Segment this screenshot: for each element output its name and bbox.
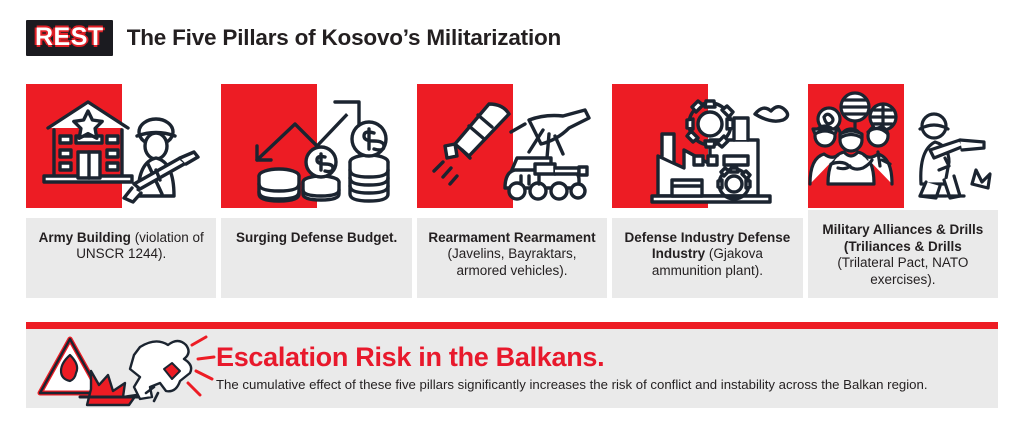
fire-hazard-triangle-icon (36, 331, 216, 407)
rest-logo: REST (26, 20, 113, 56)
escalation-risk-banner: Escalation Risk in the Balkans. The cumu… (26, 322, 998, 408)
pillar-card-military-alliances: Military Alliances & Drills (Triliances … (808, 84, 998, 298)
alliance-handshake-and-kneeling-soldier-icon (808, 84, 1000, 210)
pillar-text: Rearmament Rearmament (Javelins, Bayrakt… (417, 218, 607, 298)
pillar-text: Military Alliances & Drills (Triliances … (808, 210, 998, 298)
pillar-icon-wrap (808, 84, 998, 202)
banner-title: Escalation Risk in the Balkans. (216, 343, 984, 373)
pillar-detail: (Trilateral Pact, NATO exercises). (837, 255, 968, 286)
pillars-row: Army Building (violation of UNSCR 1244). (26, 84, 998, 298)
page-title: The Five Pillars of Kosovo’s Militarizat… (127, 25, 561, 51)
pillar-icon-wrap (417, 84, 607, 210)
pillar-icon-wrap (221, 84, 411, 210)
pillar-text: Army Building (violation of UNSCR 1244). (26, 218, 216, 298)
pillar-title: Army Building (39, 230, 135, 245)
pillar-title: Rearmament Rearmament (428, 230, 595, 245)
banner-icon-group (26, 329, 216, 408)
pillar-title: Military Alliances & Drills (Triliances … (822, 222, 983, 253)
banner-body: Escalation Risk in the Balkans. The cumu… (216, 343, 998, 393)
infographic-page: REST The Five Pillars of Kosovo’s Milita… (0, 0, 1024, 434)
pillar-title: Surging Defense Budget. (236, 230, 397, 245)
pillar-icon-wrap (612, 84, 802, 210)
header: REST The Five Pillars of Kosovo’s Milita… (26, 20, 561, 56)
rising-arrow-coin-stacks-icon (221, 84, 413, 210)
pillar-title: Defense Industry Defense Industry (625, 230, 791, 261)
banner-subtitle: The cumulative effect of these five pill… (216, 377, 984, 394)
pillar-text: Surging Defense Budget. (221, 218, 411, 298)
pillar-icon-wrap (26, 84, 216, 210)
pillar-card-army-building: Army Building (violation of UNSCR 1244). (26, 84, 216, 298)
pillar-card-defense-industry: Defense Industry Defense Industry (Gjako… (612, 84, 802, 298)
missile-drone-armored-vehicle-icon (417, 84, 609, 210)
pillar-detail: (Javelins, Bayraktars, armored vehicles)… (447, 246, 576, 277)
pillar-card-rearmament: Rearmament Rearmament (Javelins, Bayrakt… (417, 84, 607, 298)
factory-gear-icon (612, 84, 804, 210)
army-barracks-and-soldier-icon (26, 84, 218, 210)
pillar-text: Defense Industry Defense Industry (Gjako… (612, 218, 802, 298)
logo-text: REST (35, 25, 104, 50)
pillar-card-surging-defense-budget: Surging Defense Budget. (221, 84, 411, 298)
